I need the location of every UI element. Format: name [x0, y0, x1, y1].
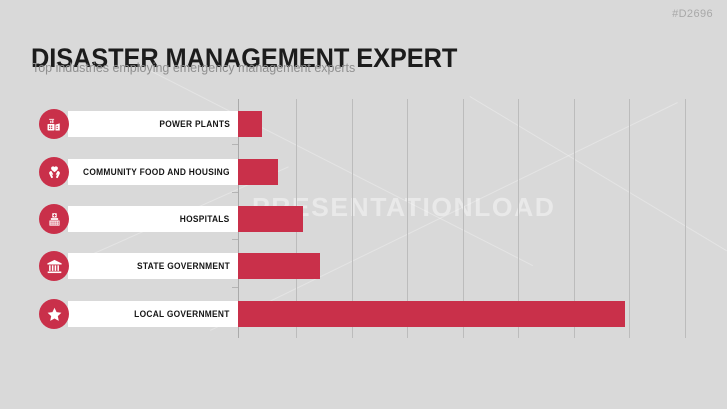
chart-gridline [629, 99, 630, 338]
chart-bar[interactable] [238, 111, 262, 137]
factory-icon [45, 115, 64, 134]
chart-axis-tick [232, 287, 238, 288]
star-icon [45, 305, 64, 324]
chart-row-label: POWER PLANTS [159, 111, 230, 137]
hands-heart-icon-badge[interactable] [39, 157, 69, 187]
chart-bar[interactable] [238, 159, 278, 185]
chart-gridline [685, 99, 686, 338]
factory-icon-badge[interactable] [39, 109, 69, 139]
hospital-icon-badge[interactable] [39, 204, 69, 234]
chart-row-label: STATE GOVERNMENT [137, 253, 230, 279]
chart-bar[interactable] [238, 253, 320, 279]
chart-row-label: COMMUNITY FOOD AND HOUSING [83, 159, 230, 185]
chart-row-label-bar: HOSPITALS [68, 206, 238, 232]
chart-axis-tick [232, 144, 238, 145]
chart-row-label: HOSPITALS [180, 206, 230, 232]
chart-axis-tick [232, 192, 238, 193]
government-building-icon [45, 257, 64, 276]
chart-row-label-bar: STATE GOVERNMENT [68, 253, 238, 279]
chart-axis-tick [232, 239, 238, 240]
government-building-icon-badge[interactable] [39, 251, 69, 281]
chart-row-label-bar: POWER PLANTS [68, 111, 238, 137]
chart-row-label: LOCAL GOVERNMENT [135, 301, 230, 327]
star-icon-badge[interactable] [39, 299, 69, 329]
slide-canvas: #D2696 DISASTER MANAGEMENT EXPERT Top in… [0, 0, 727, 409]
horizontal-bar-chart: POWER PLANTSCOMMUNITY FOOD AND HOUSINGHO… [0, 0, 727, 409]
chart-bar[interactable] [238, 301, 625, 327]
hands-heart-icon [45, 163, 64, 182]
chart-row-label-bar: LOCAL GOVERNMENT [68, 301, 238, 327]
hospital-icon [45, 210, 64, 229]
chart-row-label-bar: COMMUNITY FOOD AND HOUSING [68, 159, 238, 185]
chart-bar[interactable] [238, 206, 303, 232]
